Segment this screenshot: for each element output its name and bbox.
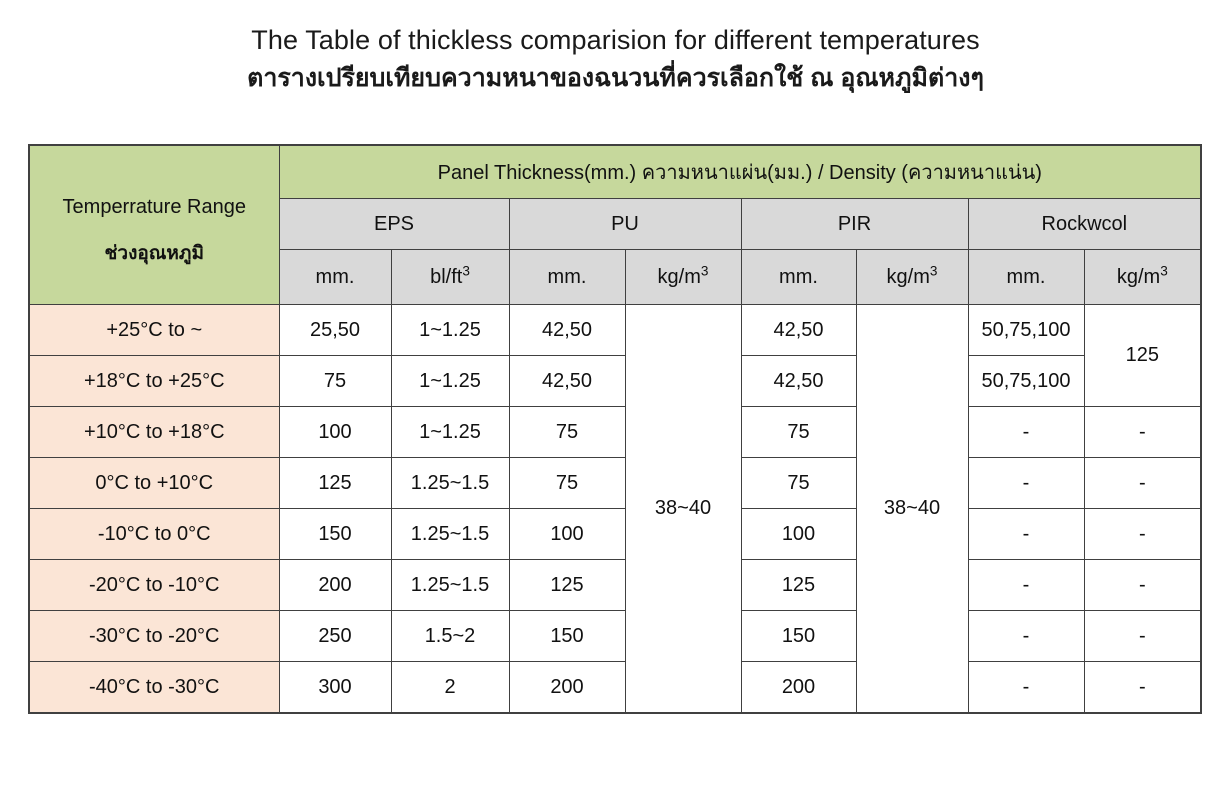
header-unit-pir-density-exponent: 3 (930, 263, 938, 278)
cell-eps-density: 1~1.25 (391, 356, 509, 407)
cell-eps-density: 1.25~1.5 (391, 509, 509, 560)
cell-pir-mm: 75 (741, 407, 856, 458)
cell-pu-mm: 100 (509, 509, 625, 560)
cell-temperature: -30°C to -20°C (29, 611, 279, 662)
cell-eps-mm: 125 (279, 458, 391, 509)
header-material-pu: PU (509, 199, 741, 250)
page-title-english: The Table of thickless comparision for d… (0, 22, 1231, 58)
cell-rockwool-density: - (1084, 560, 1201, 611)
table-row: 0°C to +10°C 125 1.25~1.5 75 75 - - (29, 458, 1201, 509)
cell-pu-density-merged: 38~40 (625, 305, 741, 714)
table-row: +10°C to +18°C 100 1~1.25 75 75 - - (29, 407, 1201, 458)
cell-pir-density-merged: 38~40 (856, 305, 968, 714)
table-page: The Table of thickless comparision for d… (0, 0, 1231, 811)
table-row: -40°C to -30°C 300 2 200 200 - - (29, 662, 1201, 714)
header-unit-pu-density-exponent: 3 (701, 263, 709, 278)
header-unit-rockwool-density-exponent: 3 (1160, 263, 1168, 278)
cell-rockwool-mm: - (968, 560, 1084, 611)
cell-rockwool-density: - (1084, 662, 1201, 714)
header-unit-pir-mm: mm. (741, 250, 856, 305)
cell-temperature: +10°C to +18°C (29, 407, 279, 458)
table-row: +18°C to +25°C 75 1~1.25 42,50 42,50 50,… (29, 356, 1201, 407)
table-row: -30°C to -20°C 250 1.5~2 150 150 - - (29, 611, 1201, 662)
cell-rockwool-mm: 50,75,100 (968, 356, 1084, 407)
cell-pu-mm: 200 (509, 662, 625, 714)
table-row: -10°C to 0°C 150 1.25~1.5 100 100 - - (29, 509, 1201, 560)
header-temperature-range-th: ช่วงอุณหภูมิ (32, 244, 277, 276)
cell-pu-mm: 125 (509, 560, 625, 611)
header-material-eps: EPS (279, 199, 509, 250)
cell-pu-mm: 42,50 (509, 356, 625, 407)
header-temperature-range-en: Temperrature Range (32, 175, 277, 244)
cell-pir-mm: 75 (741, 458, 856, 509)
header-material-rockwool: Rockwcol (968, 199, 1201, 250)
cell-pu-mm: 42,50 (509, 305, 625, 356)
cell-pu-mm: 150 (509, 611, 625, 662)
comparison-table-wrapper: Temperrature Range ช่วงอุณหภูมิ Panel Th… (28, 144, 1200, 714)
cell-rockwool-mm: - (968, 407, 1084, 458)
table-header-row-group: Temperrature Range ช่วงอุณหภูมิ Panel Th… (29, 145, 1201, 199)
cell-rockwool-density: - (1084, 611, 1201, 662)
cell-eps-mm: 25,50 (279, 305, 391, 356)
page-title-thai: ตารางเปรียบเทียบความหนาของฉนวนที่ควรเลือ… (0, 60, 1231, 96)
table-row: -20°C to -10°C 200 1.25~1.5 125 125 - - (29, 560, 1201, 611)
cell-pu-mm: 75 (509, 458, 625, 509)
header-unit-pu-density: kg/m3 (625, 250, 741, 305)
cell-eps-density: 1.25~1.5 (391, 458, 509, 509)
header-unit-pu-mm: mm. (509, 250, 625, 305)
cell-pir-mm: 150 (741, 611, 856, 662)
cell-pir-mm: 100 (741, 509, 856, 560)
cell-eps-mm: 300 (279, 662, 391, 714)
cell-temperature: -20°C to -10°C (29, 560, 279, 611)
cell-temperature: -10°C to 0°C (29, 509, 279, 560)
header-material-pir: PIR (741, 199, 968, 250)
cell-eps-mm: 100 (279, 407, 391, 458)
header-unit-rockwool-mm: mm. (968, 250, 1084, 305)
cell-eps-mm: 250 (279, 611, 391, 662)
header-unit-eps-density-text: bl/ft (430, 266, 462, 288)
cell-eps-mm: 150 (279, 509, 391, 560)
cell-rockwool-density: - (1084, 407, 1201, 458)
cell-eps-density: 1.5~2 (391, 611, 509, 662)
header-temperature-range: Temperrature Range ช่วงอุณหภูมิ (29, 145, 279, 305)
cell-rockwool-mm: - (968, 611, 1084, 662)
cell-eps-mm: 75 (279, 356, 391, 407)
cell-temperature: +25°C to ~ (29, 305, 279, 356)
cell-eps-density: 1.25~1.5 (391, 560, 509, 611)
header-unit-eps-density-exponent: 3 (462, 263, 470, 278)
cell-pir-mm: 42,50 (741, 356, 856, 407)
cell-eps-density: 2 (391, 662, 509, 714)
header-unit-pir-density-text: kg/m (887, 266, 930, 288)
cell-temperature: 0°C to +10°C (29, 458, 279, 509)
header-unit-pir-density: kg/m3 (856, 250, 968, 305)
cell-temperature: -40°C to -30°C (29, 662, 279, 714)
cell-pir-mm: 200 (741, 662, 856, 714)
cell-rockwool-density: - (1084, 509, 1201, 560)
thickness-comparison-table: Temperrature Range ช่วงอุณหภูมิ Panel Th… (28, 144, 1202, 714)
header-unit-eps-mm: mm. (279, 250, 391, 305)
table-row: +25°C to ~ 25,50 1~1.25 42,50 38~40 42,5… (29, 305, 1201, 356)
cell-pir-mm: 42,50 (741, 305, 856, 356)
cell-rockwool-mm: - (968, 509, 1084, 560)
titles-block: The Table of thickless comparision for d… (0, 0, 1231, 96)
header-unit-rockwool-density: kg/m3 (1084, 250, 1201, 305)
cell-eps-density: 1~1.25 (391, 407, 509, 458)
header-unit-rockwool-density-text: kg/m (1117, 266, 1160, 288)
cell-eps-mm: 200 (279, 560, 391, 611)
cell-rockwool-density-merged: 125 (1084, 305, 1201, 407)
cell-rockwool-density: - (1084, 458, 1201, 509)
cell-rockwool-mm: - (968, 662, 1084, 714)
cell-rockwool-mm: 50,75,100 (968, 305, 1084, 356)
header-unit-pu-density-text: kg/m (658, 266, 701, 288)
cell-temperature: +18°C to +25°C (29, 356, 279, 407)
cell-pu-mm: 75 (509, 407, 625, 458)
header-panel-thickness-density: Panel Thickness(mm.) ความหนาแผ่น(มม.) / … (279, 145, 1201, 199)
header-unit-eps-density: bl/ft3 (391, 250, 509, 305)
cell-pir-mm: 125 (741, 560, 856, 611)
cell-rockwool-mm: - (968, 458, 1084, 509)
cell-eps-density: 1~1.25 (391, 305, 509, 356)
